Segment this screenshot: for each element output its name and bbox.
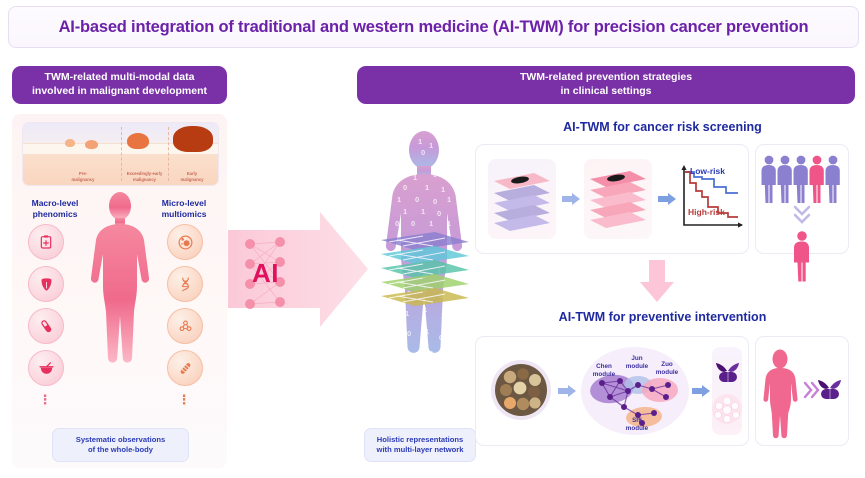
section-title-risk-screening: AI-TWM for cancer risk screening <box>470 120 855 134</box>
caption-holistic-representations: Holistic representations with multi-laye… <box>364 428 476 462</box>
legend-high-risk: High-risk <box>688 207 725 217</box>
person-icon-5 <box>826 156 840 203</box>
macro-level-title: Macro-level phenomics <box>16 198 94 219</box>
card-patient-treatment <box>755 336 849 446</box>
banner-left-data: TWM-related multi-modal data involved in… <box>12 66 227 104</box>
svg-text:1: 1 <box>411 373 415 382</box>
pulse-test-tube-icon <box>28 308 64 344</box>
svg-text:0: 0 <box>439 333 443 342</box>
legend-low-risk: Low-risk <box>690 166 725 176</box>
banner-right-line1: TWM-related prevention strategies <box>520 71 692 85</box>
caption-systematic-observations: Systematic observations of the whole-bod… <box>52 428 189 462</box>
svg-text:1: 1 <box>447 219 451 228</box>
svg-text:0: 0 <box>395 219 399 228</box>
mortar-bowl-icon <box>28 350 64 386</box>
person-icon-4-highlighted <box>810 156 824 203</box>
holistic-body-figure: 110 100 111 001 110 0011 01011 010 111 0… <box>373 128 475 423</box>
section-title-preventive-intervention: AI-TWM for preventive intervention <box>470 310 855 324</box>
banner-right-line2: in clinical settings <box>520 85 692 99</box>
lesion-pre-a <box>65 139 75 147</box>
svg-text:1: 1 <box>447 195 451 204</box>
micro-level-title: Micro-level multiomics <box>145 198 223 219</box>
protein-molecule-icon <box>167 308 203 344</box>
herbal-capsule-icon <box>818 380 841 399</box>
clipboard-record-icon <box>28 224 64 260</box>
banner-left-line2: involved in malignant development <box>32 85 207 99</box>
tile-wsi-stack-analyzed <box>584 159 652 239</box>
svg-text:1: 1 <box>429 141 433 150</box>
micro-ellipsis-icon: ⋮ <box>167 396 201 403</box>
card-cohort-stratification <box>755 144 849 254</box>
svg-text:1: 1 <box>397 195 401 204</box>
svg-text:1: 1 <box>405 309 409 318</box>
svg-text:0: 0 <box>433 170 437 179</box>
stage-label-exceedingly-early: Exceedingly-early malignancy <box>121 171 168 182</box>
arrow-step-1 <box>562 193 580 205</box>
page-title: AI-based integration of traditional and … <box>59 18 809 37</box>
svg-text:0: 0 <box>403 183 407 192</box>
lesion-early-core <box>181 130 195 140</box>
svg-text:0: 0 <box>413 393 417 402</box>
svg-text:0: 0 <box>437 209 441 218</box>
banner-right-strategies: TWM-related prevention strategies in cli… <box>357 66 855 104</box>
card-risk-screening-pipeline: Low-risk High-risk <box>475 144 749 254</box>
stage-label-early: Early malignancy <box>169 171 215 182</box>
person-icon-selected <box>794 231 809 281</box>
svg-text:0: 0 <box>407 329 411 338</box>
tongue-icon <box>28 266 64 302</box>
svg-text:1: 1 <box>429 219 433 228</box>
lesion-pre-b <box>85 140 98 149</box>
person-icon-3 <box>794 156 808 203</box>
svg-text:0: 0 <box>411 219 415 228</box>
tile-herbal-capsule <box>712 347 742 435</box>
chromosome-icon <box>167 350 203 386</box>
svg-text:1: 1 <box>425 183 429 192</box>
ai-label: AI <box>252 258 279 289</box>
svg-text:1: 1 <box>413 173 417 182</box>
figure-title-bar: AI-based integration of traditional and … <box>8 6 859 48</box>
svg-text:0: 0 <box>429 349 433 358</box>
tile-wsi-stack-input <box>488 159 556 239</box>
svg-text:1: 1 <box>409 351 413 360</box>
card-intervention-pipeline: Chen module Jun module Zuo module Shi mo… <box>475 336 749 446</box>
ai-transform-arrow <box>228 212 368 327</box>
module-label-shi: Shi module <box>622 417 652 432</box>
svg-text:1: 1 <box>425 327 429 336</box>
figure-canvas: AI-based integration of traditional and … <box>0 0 865 478</box>
stage-label-pre: Pre- malignancy <box>53 171 113 182</box>
module-label-chen: Chen module <box>588 363 620 378</box>
svg-text:1: 1 <box>421 207 425 216</box>
double-chevron-right-icon <box>805 383 818 397</box>
left-panel-multimodal-data: Pre- malignancy Exceedingly-early malign… <box>12 114 227 468</box>
skin-progression-card: Pre- malignancy Exceedingly-early malign… <box>22 122 219 186</box>
module-label-zuo: Zuo module <box>652 361 682 376</box>
lesion-early-malignancy <box>173 126 213 152</box>
cohort-people-icons <box>756 145 848 253</box>
module-label-jun: Jun module <box>622 355 652 370</box>
whole-body-silhouette <box>84 190 156 420</box>
svg-text:1: 1 <box>423 305 427 314</box>
svg-text:1: 1 <box>418 137 422 146</box>
double-chevron-down-icon <box>795 207 809 222</box>
right-panel-strategies: AI-TWM for cancer risk screening <box>470 114 855 468</box>
svg-text:1: 1 <box>431 371 435 380</box>
arrow-section-transition <box>640 260 674 302</box>
lesion-exceedingly-early <box>127 133 149 149</box>
person-icon-2 <box>778 156 792 203</box>
svg-text:1: 1 <box>441 311 445 320</box>
svg-text:0: 0 <box>421 148 425 157</box>
svg-text:0: 0 <box>433 197 437 206</box>
dna-helix-icon <box>167 266 203 302</box>
arrow-step-2 <box>658 193 676 205</box>
svg-text:1: 1 <box>431 391 435 400</box>
arrow-step-3 <box>558 385 576 397</box>
patient-silhouette-icon <box>763 350 797 439</box>
person-icon-1 <box>762 156 776 203</box>
svg-text:0: 0 <box>415 195 419 204</box>
svg-text:1: 1 <box>441 185 445 194</box>
macro-ellipsis-icon: ⋮ <box>28 396 62 403</box>
banner-left-line1: TWM-related multi-modal data <box>32 71 207 85</box>
svg-text:1: 1 <box>403 207 407 216</box>
cell-icon <box>167 224 203 260</box>
arrow-step-4 <box>692 385 710 397</box>
herb-dish-icon <box>490 359 552 421</box>
